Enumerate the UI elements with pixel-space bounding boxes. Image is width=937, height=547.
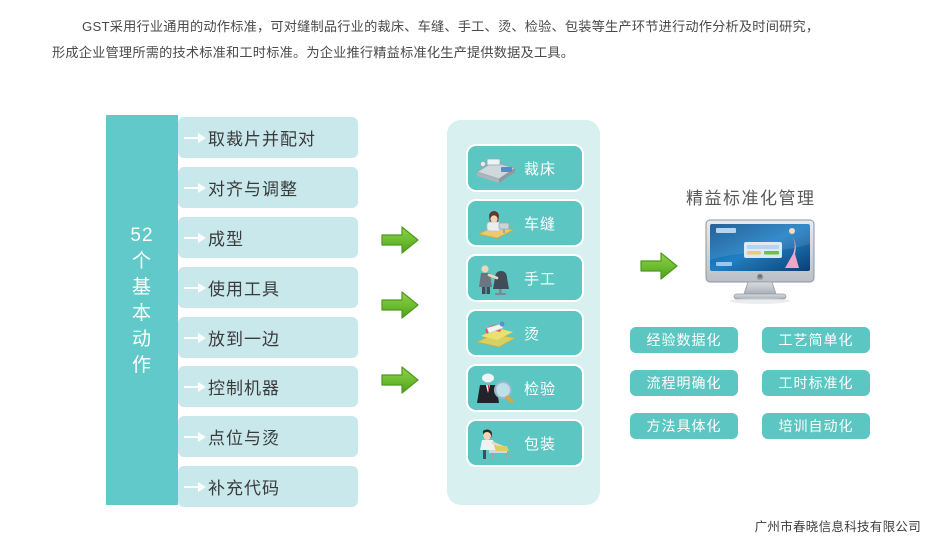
- band-char-0: 52: [106, 223, 178, 249]
- process-card-4[interactable]: 检验: [466, 364, 584, 412]
- arrow-right-icon: [182, 281, 208, 295]
- process-card-label: 包装: [524, 433, 556, 454]
- green-arrow-icon: [639, 250, 679, 282]
- motion-item-label: 对齐与调整: [208, 175, 298, 200]
- band-char-4: 动: [106, 327, 178, 353]
- process-card-label: 烫: [524, 323, 540, 344]
- motion-item-label: 成型: [208, 225, 244, 250]
- arrow-right-icon: [182, 331, 208, 345]
- benefit-tag-label: 流程明确化: [647, 373, 722, 393]
- motion-item-label: 放到一边: [208, 325, 280, 350]
- arrow-right-icon: [182, 380, 208, 394]
- benefit-tag-1[interactable]: 工艺简单化: [762, 327, 870, 353]
- packing-icon: [468, 421, 524, 465]
- band-char-3: 本: [106, 301, 178, 327]
- arrow-right-icon: [182, 430, 208, 444]
- arrow-right-icon: [182, 231, 208, 245]
- benefit-tag-0[interactable]: 经验数据化: [630, 327, 738, 353]
- motion-item-7[interactable]: 补充代码: [178, 466, 358, 507]
- intro-line-2: 形成企业管理所需的技术标准和工时标准。为企业推行精益标准化生产提供数据及工具。: [52, 40, 892, 66]
- benefit-tag-5[interactable]: 培训自动化: [762, 413, 870, 439]
- inspection-magnifier-icon: [468, 366, 524, 410]
- benefit-tag-label: 工时标准化: [779, 373, 854, 393]
- motion-item-3[interactable]: 使用工具: [178, 267, 358, 308]
- benefit-tag-2[interactable]: 流程明确化: [630, 370, 738, 396]
- motion-item-label: 使用工具: [208, 275, 280, 300]
- handwork-mannequin-icon: [468, 256, 524, 300]
- benefit-tag-label: 经验数据化: [647, 330, 722, 350]
- sewing-machine-icon: [468, 201, 524, 245]
- process-card-3[interactable]: 烫: [466, 309, 584, 357]
- green-arrow-icon: [380, 224, 420, 256]
- cutting-table-icon: [468, 146, 524, 190]
- motion-item-5[interactable]: 控制机器: [178, 366, 358, 407]
- process-card-label: 车缝: [524, 213, 556, 234]
- band-char-2: 基: [106, 275, 178, 301]
- motion-item-6[interactable]: 点位与烫: [178, 416, 358, 457]
- motion-item-0[interactable]: 取裁片并配对: [178, 117, 358, 158]
- process-card-label: 裁床: [524, 158, 556, 179]
- arrow-right-icon: [182, 131, 208, 145]
- band-char-5: 作: [106, 353, 178, 379]
- arrow-right-icon: [182, 181, 208, 195]
- ironing-icon: [468, 311, 524, 355]
- band-char-1: 个: [106, 249, 178, 275]
- motion-item-label: 补充代码: [208, 474, 280, 499]
- slide-canvas: GST采用行业通用的动作标准，可对缝制品行业的裁床、车缝、手工、烫、检验、包装等…: [0, 0, 937, 547]
- company-footer: 广州市春晓信息科技有限公司: [755, 516, 921, 535]
- benefit-tag-label: 培训自动化: [779, 416, 854, 436]
- motion-item-4[interactable]: 放到一边: [178, 317, 358, 358]
- process-card-label: 检验: [524, 378, 556, 399]
- process-card-2[interactable]: 手工: [466, 254, 584, 302]
- imac-monitor-icon: [704, 218, 816, 308]
- motion-item-label: 点位与烫: [208, 424, 280, 449]
- benefit-tag-label: 工艺简单化: [779, 330, 854, 350]
- motion-item-1[interactable]: 对齐与调整: [178, 167, 358, 208]
- motion-item-label: 控制机器: [208, 374, 280, 399]
- green-arrow-icon: [380, 289, 420, 321]
- motion-item-label: 取裁片并配对: [208, 125, 316, 150]
- right-section-title: 精益标准化管理: [686, 184, 816, 209]
- process-card-0[interactable]: 裁床: [466, 144, 584, 192]
- intro-line-1: GST采用行业通用的动作标准，可对缝制品行业的裁床、车缝、手工、烫、检验、包装等…: [52, 14, 892, 40]
- green-arrow-icon: [380, 364, 420, 396]
- process-card-label: 手工: [524, 268, 556, 289]
- process-card-1[interactable]: 车缝: [466, 199, 584, 247]
- benefit-tag-4[interactable]: 方法具体化: [630, 413, 738, 439]
- benefit-tag-label: 方法具体化: [647, 416, 722, 436]
- intro-paragraph: GST采用行业通用的动作标准，可对缝制品行业的裁床、车缝、手工、烫、检验、包装等…: [52, 14, 892, 66]
- process-card-5[interactable]: 包装: [466, 419, 584, 467]
- arrow-right-icon: [182, 480, 208, 494]
- left-teal-band: 52 个 基 本 动 作: [106, 115, 178, 505]
- benefit-tag-3[interactable]: 工时标准化: [762, 370, 870, 396]
- motion-item-2[interactable]: 成型: [178, 217, 358, 258]
- left-band-label: 52 个 基 本 动 作: [106, 223, 178, 379]
